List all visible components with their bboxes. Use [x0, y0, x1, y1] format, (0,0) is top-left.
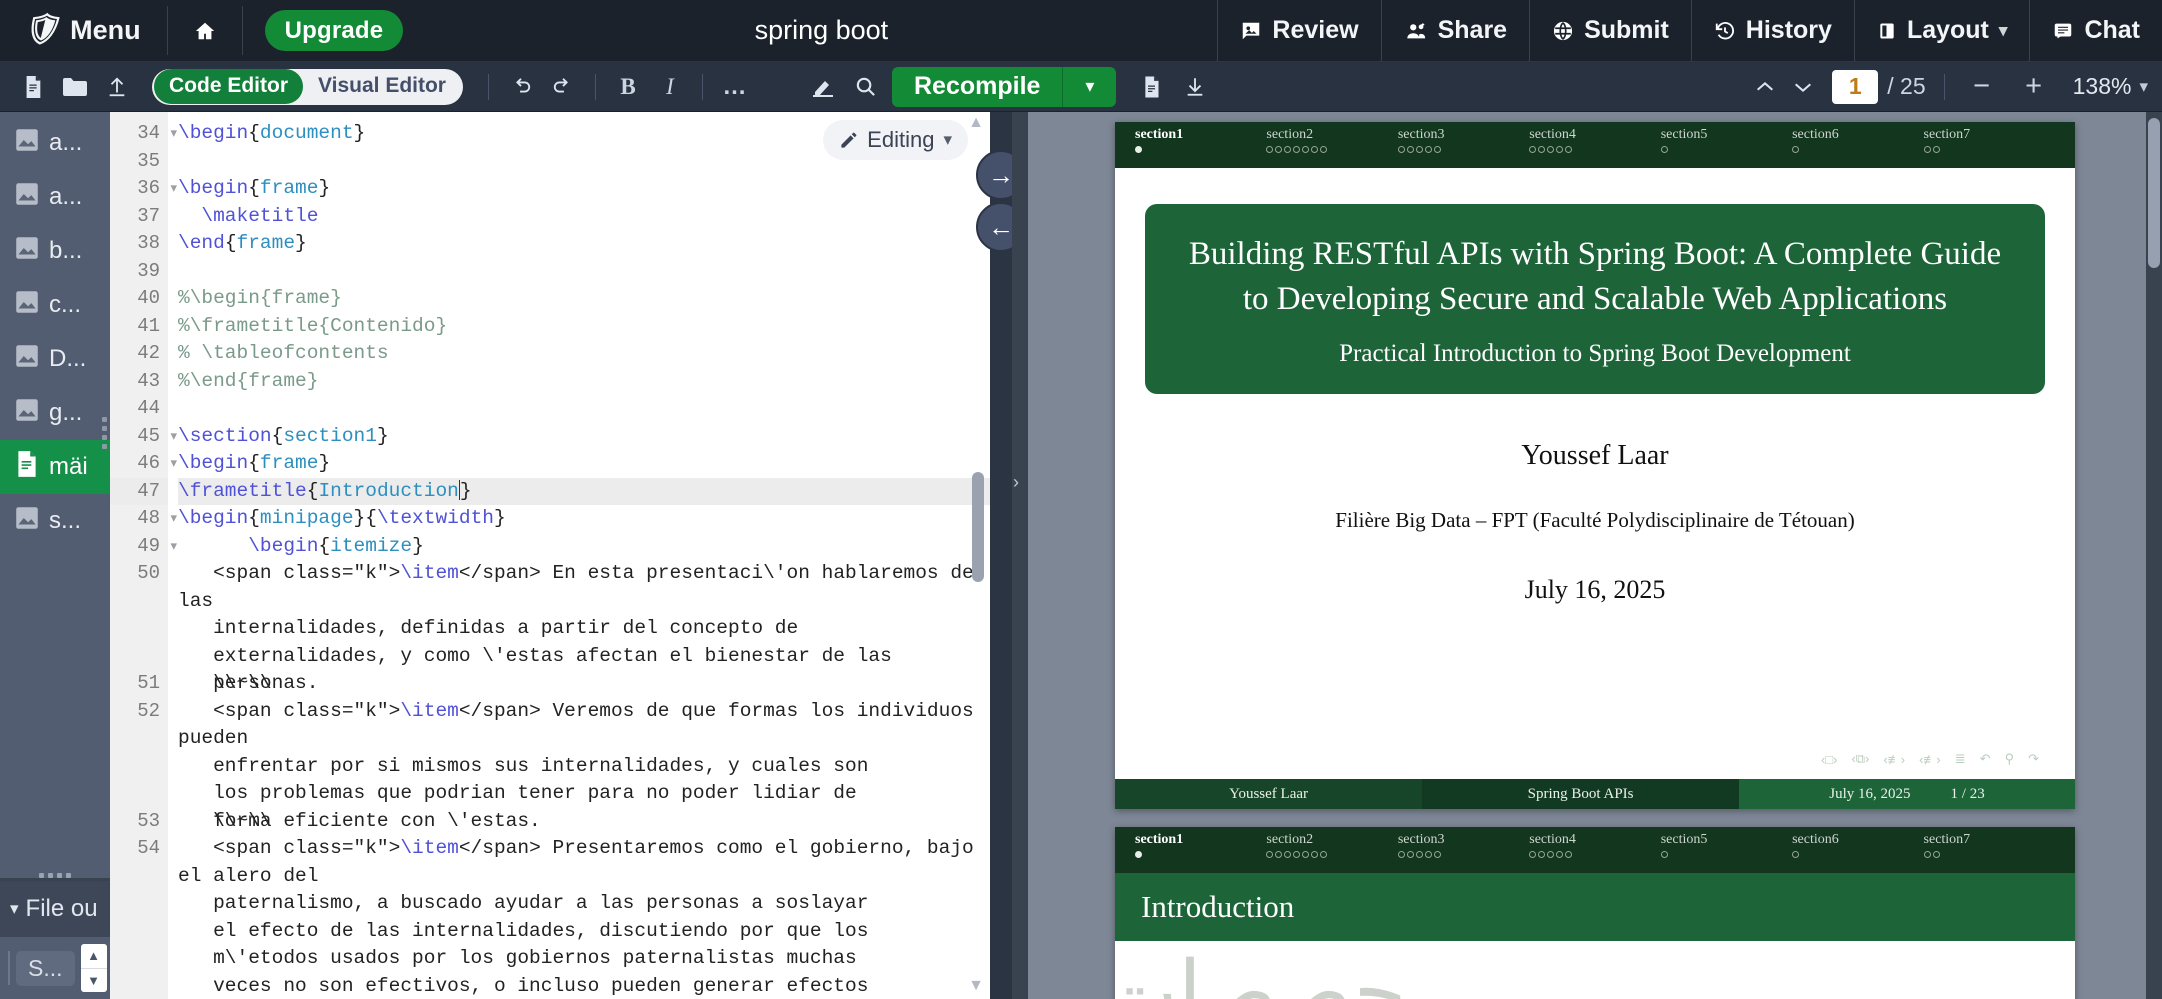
layout-icon [1877, 20, 1897, 42]
file-tree-item-1[interactable]: a... [0, 170, 110, 224]
previous-page-button[interactable] [1746, 68, 1784, 106]
pdf-file-icon[interactable] [1132, 68, 1170, 106]
layout-label: Layout [1907, 16, 1989, 45]
outline-item[interactable]: S... [16, 951, 75, 986]
slide-nav-section-2[interactable]: section2 [1266, 127, 1397, 153]
slide-title-box: Building RESTful APIs with Spring Boot: … [1145, 204, 2045, 394]
slide-nav-section-6[interactable]: section6 [1792, 832, 1923, 858]
history-button[interactable]: History [1691, 0, 1854, 61]
file-tree-item-2[interactable]: b... [0, 224, 110, 278]
file-tree-list: a...a...b...c...D...g...mäis... [0, 112, 110, 878]
tab-code-editor[interactable]: Code Editor [154, 69, 303, 103]
footer-title: Spring Boot APIs [1422, 779, 1739, 809]
zoom-out-button[interactable]: − [1963, 68, 2001, 106]
code-content[interactable]: \begin{document} \begin{frame} \maketitl… [168, 112, 990, 999]
code-editor[interactable]: 34▾3536▾373839404142434445▾46▾4748▾49▾50… [110, 112, 990, 999]
share-label: Share [1438, 16, 1507, 45]
pdf-page-1: section1section2section3section4section5… [1115, 122, 2075, 809]
slide-nav-section-label: section6 [1792, 832, 1923, 848]
code-line[interactable]: \begin{frame} [178, 175, 990, 203]
chevron-down-icon: ▾ [943, 130, 952, 150]
slide-nav-dots [1266, 146, 1397, 153]
chat-label: Chat [2084, 16, 2140, 45]
scroll-down-icon[interactable]: ▼ [81, 969, 107, 993]
outline-content: S... ▲ ▼ [0, 937, 110, 999]
line-number: 42 [110, 340, 168, 368]
line-number: 48▾ [110, 505, 168, 533]
globe-icon [1552, 20, 1574, 42]
file-tree-item-label: mäi [49, 453, 88, 481]
submit-button[interactable]: Submit [1529, 0, 1691, 61]
beamer-nav-controls[interactable]: ‹□› ‹⧉› ‹≢› ‹≢› ≣ ↶ ⚲ ↷ [1821, 751, 2039, 767]
file-tree-item-0[interactable]: a... [0, 116, 110, 170]
italic-button[interactable]: I [651, 68, 689, 106]
footer-date-page: July 16, 2025 1 / 23 [1739, 779, 2075, 809]
editor-toolbar: Code Editor Visual Editor B I … [0, 62, 2162, 112]
file-tree-item-label: c... [49, 291, 81, 319]
submit-label: Submit [1584, 16, 1669, 45]
slide-nav-section-4[interactable]: section4 [1529, 832, 1660, 858]
line-number: 43 [110, 368, 168, 396]
code-line[interactable]: \maketitle [178, 203, 990, 231]
line-number: 53 [110, 808, 168, 836]
upgrade-cell: Upgrade [243, 0, 426, 61]
watermark-text: حصصات [1115, 943, 1406, 999]
code-fold-icon[interactable]: ▾ [170, 450, 177, 478]
file-tree-panel: a...a...b...c...D...g...mäis... ▾ File o… [0, 112, 110, 999]
review-icon [1240, 20, 1262, 42]
pdf-scroll-container[interactable]: section1section2section3section4section5… [1028, 112, 2162, 999]
nav-prev-frame-icon[interactable]: ‹⧉› [1851, 751, 1869, 767]
slide-nav-section-1[interactable]: section1 [1135, 832, 1266, 858]
overleaf-app: 🛡 Menu Upgrade spring boot Review [0, 0, 2162, 999]
nav-first-frame-icon[interactable]: ‹□› [1821, 752, 1838, 767]
image-file-icon [14, 342, 40, 377]
slide-subtitle: Practical Introduction to Spring Boot De… [1185, 340, 2005, 368]
slide-nav-section-label: section3 [1398, 832, 1529, 848]
pencil-icon [839, 131, 858, 150]
line-number: 52 [110, 698, 168, 808]
slide-affiliation: Filière Big Data – FPT (Faculté Polydisc… [1115, 508, 2075, 533]
line-number: 49▾ [110, 533, 168, 561]
recompile-options-button[interactable]: ▾ [1062, 67, 1116, 107]
page-total-label: / 25 [1887, 73, 1925, 100]
redo-icon[interactable] [544, 68, 582, 106]
file-tree-item-4[interactable]: D... [0, 332, 110, 386]
search-icon[interactable] [846, 68, 884, 106]
line-number: 50 [110, 560, 168, 670]
code-line[interactable]: <span class="k">\item</span> En esta pre… [178, 560, 990, 670]
code-line[interactable]: %\begin{frame} [178, 285, 990, 313]
code-line[interactable]: <span class="k">\item</span> Presentarem… [178, 835, 990, 999]
outline-indent-line [8, 951, 10, 985]
undo-icon[interactable] [502, 68, 540, 106]
tab-visual-editor[interactable]: Visual Editor [303, 69, 461, 103]
nav-next-subsection-icon[interactable]: ‹≢› [1919, 752, 1941, 767]
line-number: 39 [110, 258, 168, 286]
slide-nav-section-label: section7 [1924, 127, 2055, 143]
slide-nav-section-label: section7 [1924, 832, 2055, 848]
chat-button[interactable]: Chat [2029, 0, 2162, 61]
footer-date: July 16, 2025 [1829, 786, 1910, 803]
page-title: spring boot [755, 15, 889, 46]
line-number: 41 [110, 313, 168, 341]
slide-nav-dots [1924, 146, 2055, 153]
document-title-wrap: spring boot [425, 0, 1217, 61]
code-fold-icon[interactable]: ▾ [170, 120, 177, 148]
image-file-icon [14, 504, 40, 539]
slide-nav-dots [1135, 851, 1266, 858]
file-tree-item-label: s... [49, 507, 81, 535]
image-file-icon [14, 288, 40, 323]
code-line[interactable]: \begin{frame} [178, 450, 990, 478]
share-button[interactable]: Share [1381, 0, 1529, 61]
review-button[interactable]: Review [1217, 0, 1380, 61]
highlighter-icon[interactable] [804, 68, 842, 106]
pane-splitter[interactable]: → ← [990, 112, 1012, 999]
line-number: 37 [110, 203, 168, 231]
editor-scroll-down-icon[interactable]: ▼ [968, 977, 984, 995]
code-fold-icon[interactable]: ▾ [170, 423, 177, 451]
slide-footer: Youssef Laar Spring Boot APIs July 16, 2… [1115, 779, 2075, 809]
review-label: Review [1272, 16, 1358, 45]
chat-icon [2052, 20, 2074, 42]
code-fold-icon[interactable]: ▾ [170, 175, 177, 203]
line-number: 35 [110, 148, 168, 176]
outline-scroll-spinner[interactable]: ▲ ▼ [81, 944, 107, 992]
editing-mode-dropdown[interactable]: Editing ▾ [823, 120, 968, 160]
file-tree-item-3[interactable]: c... [0, 278, 110, 332]
slide-nav-section-7[interactable]: section7 [1924, 832, 2055, 858]
code-line[interactable]: % \tableofcontents [178, 340, 990, 368]
slide-nav-section-3[interactable]: section3 [1398, 832, 1529, 858]
page-number-input[interactable]: 1 [1832, 70, 1878, 104]
new-folder-icon[interactable] [56, 68, 94, 106]
slide-nav-section-3[interactable]: section3 [1398, 127, 1529, 153]
slide-author: Youssef Laar [1115, 440, 2075, 472]
new-file-icon[interactable] [14, 68, 52, 106]
top-bar: 🛡 Menu Upgrade spring boot Review [0, 0, 2162, 62]
pdf-scrollbar[interactable] [2146, 112, 2162, 999]
nav-back-icon[interactable]: ↶ [1980, 751, 1991, 767]
divider [595, 74, 596, 100]
slide-nav-dots [1398, 851, 1529, 858]
code-line[interactable] [178, 258, 990, 286]
file-tree-item-label: a... [49, 183, 82, 211]
home-icon [194, 20, 216, 42]
line-number: 36▾ [110, 175, 168, 203]
nav-forward-icon[interactable]: ↷ [2028, 751, 2039, 767]
image-file-icon [14, 234, 40, 269]
editor-scroll-up-icon[interactable]: ▲ [968, 114, 984, 132]
code-line[interactable]: <span class="k">\item</span> Veremos de … [178, 698, 990, 808]
footer-author: Youssef Laar [1115, 779, 1422, 809]
nav-search-icon[interactable]: ⚲ [2005, 751, 2015, 767]
download-icon[interactable] [1176, 68, 1214, 106]
code-fold-icon[interactable]: ▾ [170, 533, 177, 561]
code-line[interactable]: \section{section1} [178, 423, 990, 451]
slide-nav-section-label: section5 [1661, 127, 1792, 143]
history-icon [1714, 20, 1736, 42]
zoom-level-label: 138% [2073, 73, 2132, 100]
line-number: 45▾ [110, 423, 168, 451]
slide-nav-section-label: section1 [1135, 832, 1266, 848]
code-line[interactable]: \end{frame} [178, 230, 990, 258]
line-number: 44 [110, 395, 168, 423]
file-tree-item-label: D... [49, 345, 86, 373]
divider [1944, 74, 1945, 100]
nav-prev-subsection-icon[interactable]: ‹≢› [1883, 752, 1905, 767]
slide-section-nav: section1section2section3section4section5… [1115, 122, 2075, 168]
next-page-button[interactable] [1784, 68, 1822, 106]
slide-nav-section-label: section1 [1135, 127, 1266, 143]
line-number: 38 [110, 230, 168, 258]
chevron-right-icon[interactable]: › [1013, 472, 1019, 493]
recompile-button[interactable]: Recompile [892, 67, 1062, 107]
pdf-scrollbar-thumb[interactable] [2148, 118, 2160, 268]
zoom-in-button[interactable]: + [2015, 68, 2053, 106]
file-tree-item-label: a... [49, 129, 82, 157]
people-icon [1404, 20, 1428, 42]
top-bar-actions: Review Share Submit History [1217, 0, 2162, 61]
divider [702, 74, 703, 100]
file-outline-label: File ou [26, 895, 98, 923]
slide-nav-dots [1661, 146, 1792, 153]
slide-title: Building RESTful APIs with Spring Boot: … [1185, 232, 2005, 322]
panel-resize-handle[interactable] [102, 417, 108, 453]
menu-label: Menu [70, 15, 141, 46]
slide-date: July 16, 2025 [1115, 575, 2075, 605]
code-line[interactable]: \begin{minipage}{\textwidth} [178, 505, 990, 533]
line-number: 47 [110, 478, 168, 506]
chevron-down-icon: ▾ [10, 899, 19, 919]
line-number: 40 [110, 285, 168, 313]
pdf-preview-pane[interactable]: section1section2section3section4section5… [1028, 112, 2162, 999]
slide-nav-section-1[interactable]: section1 [1135, 127, 1266, 153]
nav-next-section-icon[interactable]: ≣ [1955, 751, 1966, 767]
divider [488, 74, 489, 100]
code-line[interactable]: %\frametitle{Contenido} [178, 313, 990, 341]
slide-nav-dots [1529, 851, 1660, 858]
slide-nav-section-label: section5 [1661, 832, 1792, 848]
history-label: History [1746, 16, 1832, 45]
slide-nav-dots [1661, 851, 1792, 858]
slide-nav-section-label: section4 [1529, 127, 1660, 143]
footer-page: 1 / 23 [1951, 786, 1985, 803]
code-fold-icon[interactable]: ▾ [170, 505, 177, 533]
code-line[interactable] [178, 395, 990, 423]
slide-nav-section-5[interactable]: section5 [1661, 127, 1792, 153]
recompile-group: Recompile ▾ [892, 67, 1116, 107]
slide-nav-section-7[interactable]: section7 [1924, 127, 2055, 153]
editor-scrollbar-thumb[interactable] [972, 472, 984, 582]
code-line[interactable]: %\end{frame} [178, 368, 990, 396]
chevron-down-icon: ▾ [1999, 21, 2008, 41]
slide-nav-dots [1924, 851, 2055, 858]
bold-button[interactable]: B [609, 68, 647, 106]
home-button[interactable] [168, 0, 242, 61]
slide-nav-dots [1266, 851, 1397, 858]
file-tree-item-label: b... [49, 237, 82, 265]
editing-mode-label: Editing [867, 127, 934, 153]
editor-mode-toggle[interactable]: Code Editor Visual Editor [152, 69, 463, 105]
main-area: a...a...b...c...D...g...mäis... ▾ File o… [0, 112, 2162, 999]
slide-nav-dots [1135, 146, 1266, 153]
more-options-button[interactable]: … [716, 68, 754, 106]
slide-nav-section-6[interactable]: section6 [1792, 127, 1923, 153]
line-number: 51 [110, 670, 168, 698]
chevron-down-icon[interactable]: ▾ [2139, 77, 2148, 97]
image-file-icon [14, 126, 40, 161]
slide-nav-section-label: section2 [1266, 832, 1397, 848]
pane-collapse-strip[interactable]: › [1012, 112, 1028, 999]
line-number-gutter: 34▾3536▾373839404142434445▾46▾4748▾49▾50… [110, 112, 168, 999]
slide-author-block: Youssef Laar Filière Big Data – FPT (Fac… [1115, 440, 2075, 605]
pdf-page-2: section1section2section3section4section5… [1115, 827, 2075, 999]
slide-nav-section-2[interactable]: section2 [1266, 832, 1397, 858]
slide-nav-dots [1398, 146, 1529, 153]
upgrade-button[interactable]: Upgrade [265, 10, 404, 52]
slide-nav-section-label: section3 [1398, 127, 1529, 143]
file-outline-toggle[interactable]: ▾ File ou [0, 881, 110, 937]
menu-button[interactable]: 🛡 Menu [0, 0, 167, 61]
editor-toolbar-right: Recompile ▾ 1 / 25 − + 138% ▾ [884, 62, 2162, 111]
slide-nav-section-label: section4 [1529, 832, 1660, 848]
line-number: 54 [110, 835, 168, 999]
slide-nav-dots [1529, 146, 1660, 153]
line-number: 46▾ [110, 450, 168, 478]
overleaf-logo-icon: 🛡 [22, 15, 60, 45]
slide-nav-section-label: section6 [1792, 127, 1923, 143]
file-tree-item-6[interactable]: mäi [0, 440, 110, 494]
layout-button[interactable]: Layout ▾ [1854, 0, 2030, 61]
editor-toolbar-left: Code Editor Visual Editor B I … [0, 62, 884, 111]
upload-icon[interactable] [98, 68, 136, 106]
tex-file-icon [14, 450, 40, 485]
slide-nav-section-label: section2 [1266, 127, 1397, 143]
line-number: 34▾ [110, 120, 168, 148]
panel-divider[interactable] [0, 878, 110, 881]
file-tree-item-7[interactable]: s... [0, 494, 110, 548]
file-tree-item-5[interactable]: g... [0, 386, 110, 440]
file-tree-item-label: g... [49, 399, 82, 427]
slide-nav-section-5[interactable]: section5 [1661, 832, 1792, 858]
scroll-up-icon[interactable]: ▲ [81, 944, 107, 969]
slide-frametitle: Introduction [1115, 873, 2075, 941]
slide-nav-dots [1792, 851, 1923, 858]
code-line[interactable]: \begin{itemize} [178, 533, 990, 561]
slide-section-nav: section1section2section3section4section5… [1115, 827, 2075, 873]
image-file-icon [14, 396, 40, 431]
slide-nav-section-4[interactable]: section4 [1529, 127, 1660, 153]
code-line[interactable]: \frametitle{Introduction} [178, 478, 990, 506]
slide-nav-dots [1792, 146, 1923, 153]
image-file-icon [14, 180, 40, 215]
